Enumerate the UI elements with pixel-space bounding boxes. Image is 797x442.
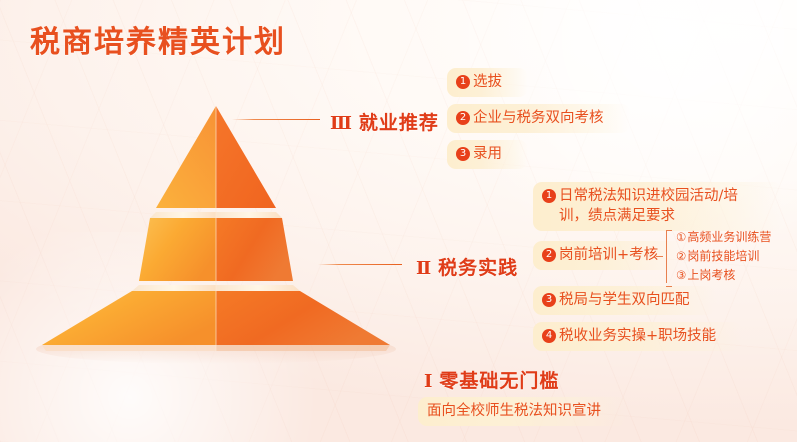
- level-2-subitem-2-text: 岗前技能培训: [687, 249, 759, 263]
- level-2-heading: Ⅱ税务实践: [416, 253, 518, 280]
- level-2-item-1[interactable]: 1 日常税法知识进校园活动/培训，绩点满足要求: [533, 182, 782, 231]
- level-1-item-1-text: 面向全校师生税法知识宣讲: [427, 401, 601, 421]
- bullet-number-icon: 2: [456, 111, 470, 125]
- level-3-item-1-text: 选拔: [473, 72, 502, 92]
- bullet-number-icon: 3: [456, 147, 470, 161]
- connector-line-level-3: [232, 119, 320, 120]
- level-1-title: 零基础无门槛: [439, 370, 559, 392]
- connector-line-level-2: [318, 264, 402, 265]
- level-2-item-3[interactable]: 3 税局与学生双向匹配: [533, 286, 716, 315]
- level-3-item-2-text: 企业与税务双向考核: [473, 108, 604, 128]
- level-2-item-1-text: 日常税法知识进校园活动/培训，绩点满足要求: [559, 186, 756, 226]
- level-3-item-3-text: 录用: [473, 144, 502, 164]
- level-2-subitem-2[interactable]: ②岗前技能培训: [676, 247, 771, 266]
- level-2-item-2-text: 岗前培训+考核: [559, 245, 658, 265]
- level-1-heading: Ⅰ零基础无门槛: [424, 366, 559, 393]
- level-3-title: 就业推荐: [359, 112, 439, 134]
- level-1-item-1[interactable]: 面向全校师生税法知识宣讲: [418, 397, 627, 426]
- page-title: 税商培养精英计划: [30, 17, 286, 61]
- level-3-item-1[interactable]: 1 选拔: [447, 68, 528, 97]
- level-3-item-3[interactable]: 3 录用: [447, 140, 528, 169]
- level-2-item-4-text: 税收业务实操+职场技能: [559, 326, 716, 346]
- level-3-item-2[interactable]: 2 企业与税务双向考核: [447, 104, 630, 133]
- level-2-roman: Ⅱ: [416, 258, 431, 279]
- pyramid-graphic: [20, 95, 420, 365]
- bracket-icon: [663, 228, 672, 285]
- bullet-number-icon: 4: [542, 329, 556, 343]
- subitem-number-icon: ①: [676, 230, 686, 244]
- level-2-item-4[interactable]: 4 税收业务实操+职场技能: [533, 322, 742, 351]
- level-3-roman: Ⅲ: [330, 113, 352, 134]
- bullet-number-icon: 2: [542, 248, 556, 262]
- level-2-title: 税务实践: [438, 257, 518, 279]
- level-2-subitem-1[interactable]: ①高频业务训练营: [676, 228, 771, 247]
- level-2-subitem-list: ①高频业务训练营 ②岗前技能培训 ③上岗考核: [676, 228, 771, 285]
- bullet-number-icon: 1: [542, 189, 556, 203]
- subitem-number-icon: ③: [676, 268, 686, 282]
- level-2-subitems-group: ①高频业务训练营 ②岗前技能培训 ③上岗考核: [663, 228, 771, 285]
- level-3-heading: Ⅲ就业推荐: [330, 108, 439, 135]
- bullet-number-icon: 1: [456, 75, 470, 89]
- level-2-item-3-text: 税局与学生双向匹配: [559, 290, 690, 310]
- bullet-number-icon: 3: [542, 293, 556, 307]
- level-2-subitem-3-text: 上岗考核: [687, 268, 735, 282]
- level-2-subitem-3[interactable]: ③上岗考核: [676, 266, 771, 285]
- subitem-number-icon: ②: [676, 249, 686, 263]
- level-1-roman: Ⅰ: [424, 371, 432, 392]
- level-2-subitem-1-text: 高频业务训练营: [687, 230, 771, 244]
- infographic-canvas: 税商培养精英计划: [0, 0, 797, 442]
